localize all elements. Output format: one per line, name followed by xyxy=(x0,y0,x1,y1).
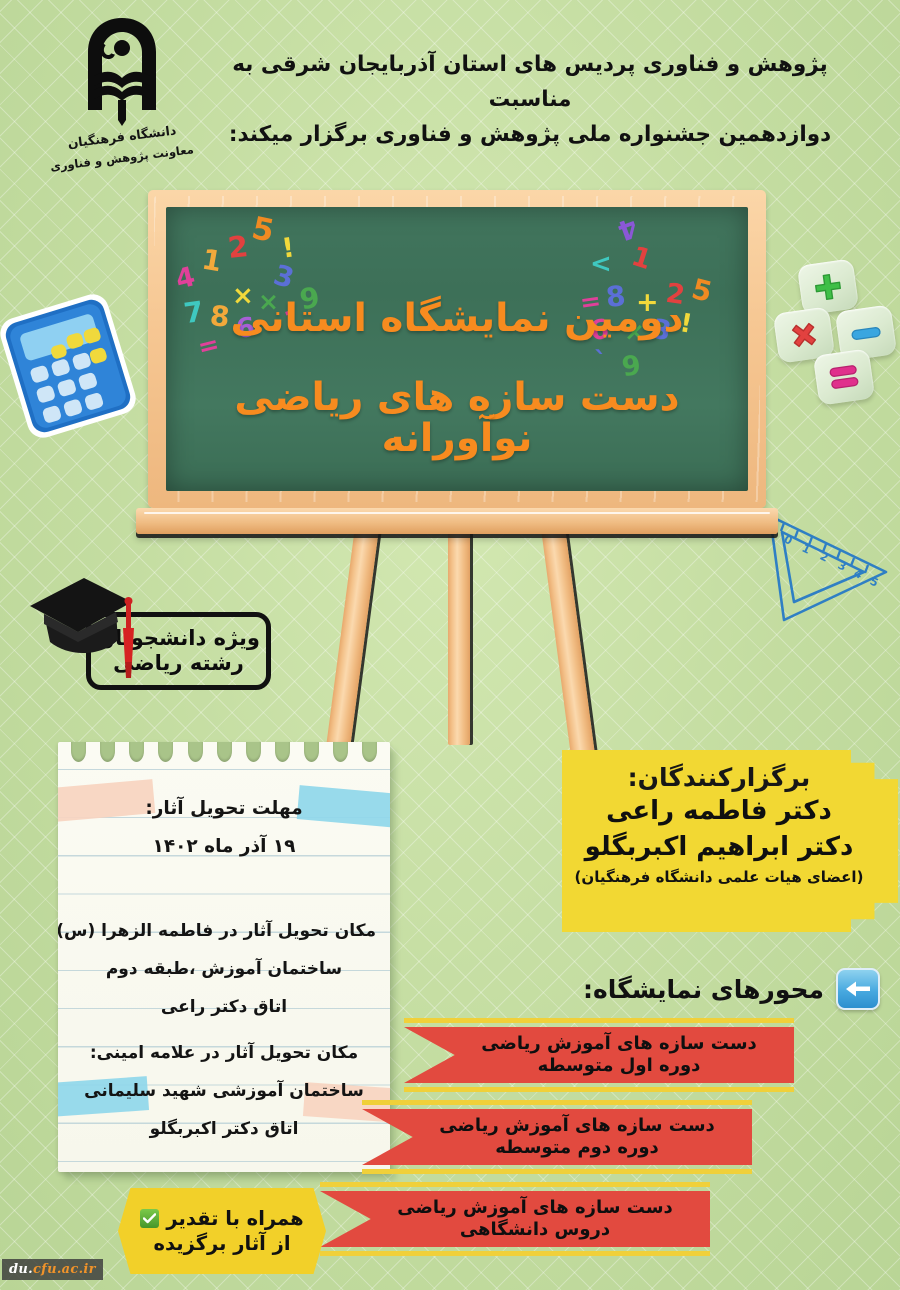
location1-line-2: ساختمان آموزش ،طبقه دوم xyxy=(72,950,376,988)
header-line-2: دوازدهمین جشنواره ملی پژوهش و فناوری برگ… xyxy=(190,118,870,153)
organizer-name-2: دکتر ابراهیم اکبربگلو xyxy=(574,831,864,864)
deadline-block: مهلت تحویل آثار: ۱۹ آذر ماه ۱۴۰۲ xyxy=(72,790,376,866)
ribbon-body: دست سازه های آموزش ریاضی دروس دانشگاهی xyxy=(320,1191,710,1247)
chalk-doodle-glyph: 5 xyxy=(249,213,277,248)
math-operator-tiles xyxy=(776,262,894,396)
ribbon-accent-bottom xyxy=(404,1087,794,1092)
location1-title: مکان تحویل آثار در فاطمه الزهرا (س): xyxy=(72,912,376,950)
equals-tile-icon xyxy=(813,348,875,405)
award-row-top: همراه با تقدیر xyxy=(140,1207,303,1230)
award-line-1: همراه با تقدیر xyxy=(166,1207,303,1230)
notepad: مهلت تحویل آثار: ۱۹ آذر ماه ۱۴۰۲ مکان تح… xyxy=(58,742,390,1176)
calculator-icon xyxy=(0,285,147,447)
header-line-1: پژوهش و فناوری پردیس های استان آذربایجان… xyxy=(190,48,870,118)
chalk-doodle-glyph: > xyxy=(590,251,612,277)
blackboard-title-line-1: دومین نمایشگاه استانی xyxy=(166,299,748,340)
ribbon-accent-bottom xyxy=(320,1251,710,1256)
location-block-2: مکان تحویل آثار در علامه امینی: ساختمان … xyxy=(72,1034,376,1148)
easel-leg-middle xyxy=(448,520,470,745)
award-note-badge: همراه با تقدیر از آثار برگزیده xyxy=(118,1188,326,1274)
organizer-name-1: دکتر فاطمه راعی xyxy=(574,795,864,828)
blackboard-title: دومین نمایشگاه استانی دست سازه های ریاضی… xyxy=(166,299,748,460)
poster-canvas: دانشگاه فرهنگیان معاونت پژوهش و فناوری پ… xyxy=(0,0,900,1290)
check-mark-icon xyxy=(140,1209,159,1228)
location2-line-3: اتاق دکتر اکبربگلو xyxy=(72,1110,376,1148)
location2-title: مکان تحویل آثار در علامه امینی: xyxy=(72,1034,376,1072)
chalk-doodle-glyph: 1 xyxy=(628,243,654,274)
ribbon-label: دست سازه های آموزش ریاضی دروس دانشگاهی xyxy=(397,1197,673,1241)
farhangian-university-emblem-icon xyxy=(74,14,170,126)
site-watermark: du.cfu.ac.ir xyxy=(2,1259,103,1280)
axis-ribbon: دست سازه های آموزش ریاضی دوره اول متوسطه xyxy=(404,1018,794,1092)
university-logo-block: دانشگاه فرهنگیان معاونت پژوهش و فناوری xyxy=(42,14,202,167)
svg-text:3: 3 xyxy=(836,559,849,574)
location2-line-2: ساختمان آموزشی شهید سلیمانی xyxy=(72,1072,376,1110)
award-line-2: از آثار برگزیده xyxy=(153,1232,290,1255)
deadline-date: ۱۹ آذر ماه ۱۴۰۲ xyxy=(72,828,376,866)
note-spacer xyxy=(72,874,376,912)
header-announcement: پژوهش و فناوری پردیس های استان آذربایجان… xyxy=(190,48,870,152)
plus-tile-icon xyxy=(797,258,859,315)
axis-ribbon: دست سازه های آموزش ریاضی دروس دانشگاهی xyxy=(320,1182,710,1256)
svg-text:5: 5 xyxy=(868,575,881,590)
chalk-doodle-glyph: 2 xyxy=(227,232,250,263)
blackboard-title-line-2: دست سازه های ریاضی نوآورانه xyxy=(166,378,748,460)
arrow-left-icon xyxy=(836,968,880,1010)
ribbon-label: دست سازه های آموزش ریاضی دوره دوم متوسطه xyxy=(439,1115,715,1159)
exhibition-axes-heading: محورهای نمایشگاه: xyxy=(450,968,880,1010)
ribbon-accent-top xyxy=(362,1100,752,1105)
students-only-badge: ویژه دانشجویان رشته ریاضی xyxy=(26,568,296,698)
chalk-doodle-glyph: 1 xyxy=(200,246,224,277)
notepad-content: مهلت تحویل آثار: ۱۹ آذر ماه ۱۴۰۲ مکان تح… xyxy=(58,742,390,1172)
blackboard-frame: 4125!39××786-=4>18+25=6×3!9` دومین نمایش… xyxy=(148,190,766,508)
ribbon-body: دست سازه های آموزش ریاضی دوره اول متوسطه xyxy=(404,1027,794,1083)
notepad-sheet: مهلت تحویل آثار: ۱۹ آذر ماه ۱۴۰۲ مکان تح… xyxy=(58,742,390,1172)
axes-heading-label: محورهای نمایشگاه: xyxy=(583,975,824,1004)
set-square-ruler-icon: 0 1 2 3 4 5 xyxy=(760,498,892,628)
organizers-title: برگزارکنندگان: xyxy=(574,762,864,793)
axis-ribbon: دست سازه های آموزش ریاضی دوره دوم متوسطه xyxy=(362,1100,752,1174)
ribbon-accent-bottom xyxy=(362,1169,752,1174)
blackboard-surface: 4125!39××786-=4>18+25=6×3!9` دومین نمایش… xyxy=(166,207,748,491)
ribbon-accent-top xyxy=(320,1182,710,1187)
deadline-title: مهلت تحویل آثار: xyxy=(72,790,376,828)
chalk-doodle-glyph: 4 xyxy=(173,263,198,294)
organizers-badge: برگزارکنندگان: دکتر فاطمه راعی دکتر ابرا… xyxy=(562,750,898,932)
ribbon-accent-top xyxy=(404,1018,794,1023)
ribbon-body: دست سازه های آموزش ریاضی دوره دوم متوسطه xyxy=(362,1109,752,1165)
location-block-1: مکان تحویل آثار در فاطمه الزهرا (س): ساخ… xyxy=(72,912,376,1026)
graduation-cap-icon xyxy=(26,568,136,683)
organizers-affiliation: (اعضای هیات علمی دانشگاه فرهنگیان) xyxy=(574,868,864,886)
chalk-doodle-glyph: 4 xyxy=(614,213,641,245)
blackboard-chalk-tray xyxy=(136,508,778,534)
svg-text:1: 1 xyxy=(800,542,813,557)
svg-text:4: 4 xyxy=(852,567,865,582)
svg-text:2: 2 xyxy=(818,550,831,565)
watermark-domain: cfu.ac.ir xyxy=(33,1262,96,1277)
watermark-prefix: du. xyxy=(9,1262,33,1277)
ribbon-label: دست سازه های آموزش ریاضی دوره اول متوسطه xyxy=(481,1033,757,1077)
easel-leg-right xyxy=(540,518,598,781)
location1-line-3: اتاق دکتر راعی xyxy=(72,988,376,1026)
